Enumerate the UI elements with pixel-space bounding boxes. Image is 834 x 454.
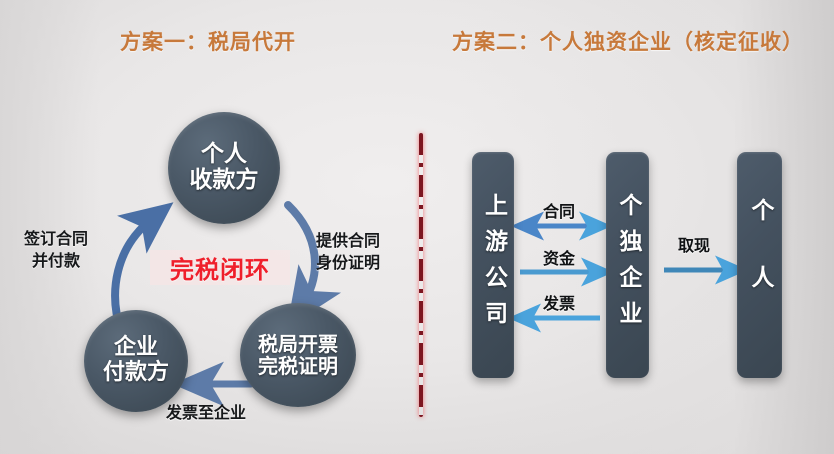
flow-label-funds: 资金	[543, 245, 575, 269]
flow-bar-individual[interactable]: 个人	[737, 152, 782, 378]
slide-canvas: 方案一：税局代开 方案二：个人独资企业（核定征收） 个人 收款方 企业 付款方 …	[0, 0, 834, 454]
flow-bar-label: 上游公司	[482, 193, 505, 337]
flow-bar-upstream-company[interactable]: 上游公司	[472, 152, 514, 378]
cycle-node-tax-bureau-invoice[interactable]: 税局开票 完税证明	[240, 303, 356, 407]
cycle-node-company-payer[interactable]: 企业 付款方	[84, 310, 188, 412]
edge-label-line2: 身份证明	[316, 252, 380, 274]
cycle-arrows-group	[0, 0, 420, 454]
cycle-node-line1: 企业	[114, 336, 158, 361]
edge-label-line1: 提供合同	[316, 230, 380, 252]
cycle-node-individual-payee[interactable]: 个人 收款方	[168, 112, 280, 224]
flow-label-invoice: 发票	[543, 290, 575, 314]
edge-label-invoice-to-company: 发票至企业	[166, 402, 246, 424]
edge-label-line2: 并付款	[24, 250, 88, 272]
cycle-node-line1: 税局开票	[258, 333, 338, 355]
cycle-center-label: 完税闭环	[150, 250, 290, 285]
flow-bar-sole-proprietorship[interactable]: 个独企业	[606, 152, 649, 378]
edge-label-sign-contract-pay: 签订合同 并付款	[24, 228, 88, 271]
flow-bar-label: 个独企业	[616, 193, 639, 337]
edge-label-line1: 签订合同	[24, 228, 88, 250]
cycle-node-line2: 收款方	[190, 168, 259, 194]
cycle-node-line2: 付款方	[103, 361, 169, 386]
flow-label-cash-withdrawal: 取现	[678, 232, 710, 256]
flow-bar-label: 个人	[748, 198, 771, 332]
cycle-node-line1: 个人	[201, 142, 247, 168]
arrow-provide-contract-id	[288, 205, 315, 305]
edge-label-provide-contract-id: 提供合同 身份证明	[316, 230, 380, 273]
flow-label-contract: 合同	[543, 198, 575, 222]
cycle-node-line2: 完税证明	[258, 355, 338, 377]
